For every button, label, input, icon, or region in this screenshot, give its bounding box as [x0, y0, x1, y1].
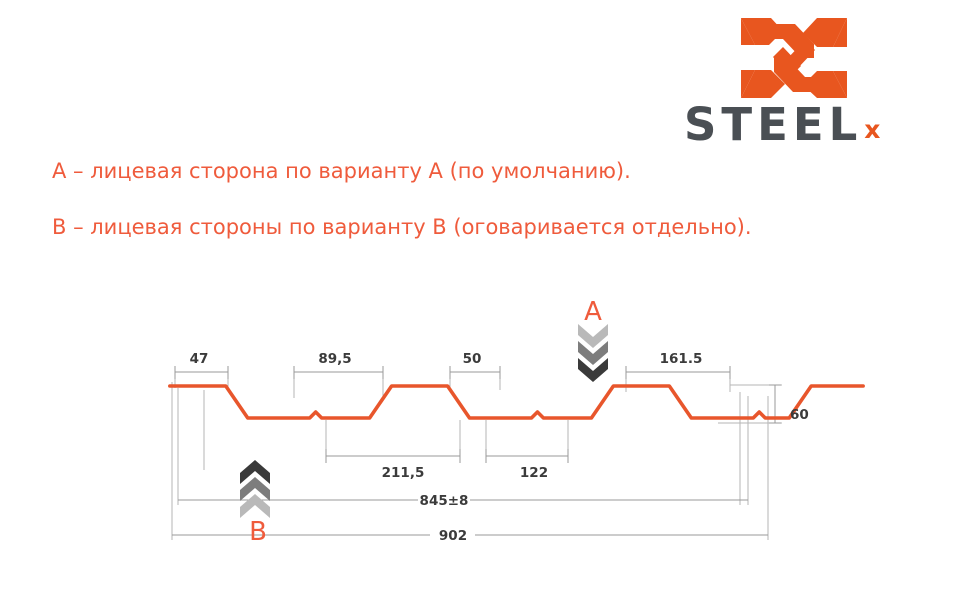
dim-label-161-5: 161.5 — [660, 351, 703, 367]
extension-lines — [172, 368, 782, 540]
dim-label-902: 902 — [439, 528, 467, 544]
dim-label-211-5: 211,5 — [382, 465, 425, 481]
dim-label-60: 60 — [790, 407, 809, 423]
dim-label-845: 845±8 — [420, 493, 469, 509]
dim-label-89-5: 89,5 — [318, 351, 351, 367]
marker-b: B — [240, 460, 270, 547]
dim-label-122: 122 — [520, 465, 548, 481]
marker-b-label: B — [249, 517, 267, 547]
dim-label-50: 50 — [463, 351, 482, 367]
profile-technical-drawing: A B 47 89,5 50 161.5 211,5 122 845±8 902… — [0, 0, 970, 597]
marker-a: A — [578, 297, 608, 382]
dim-label-47: 47 — [190, 351, 209, 367]
corrugated-profile-path — [170, 386, 863, 418]
marker-a-label: A — [584, 297, 602, 327]
